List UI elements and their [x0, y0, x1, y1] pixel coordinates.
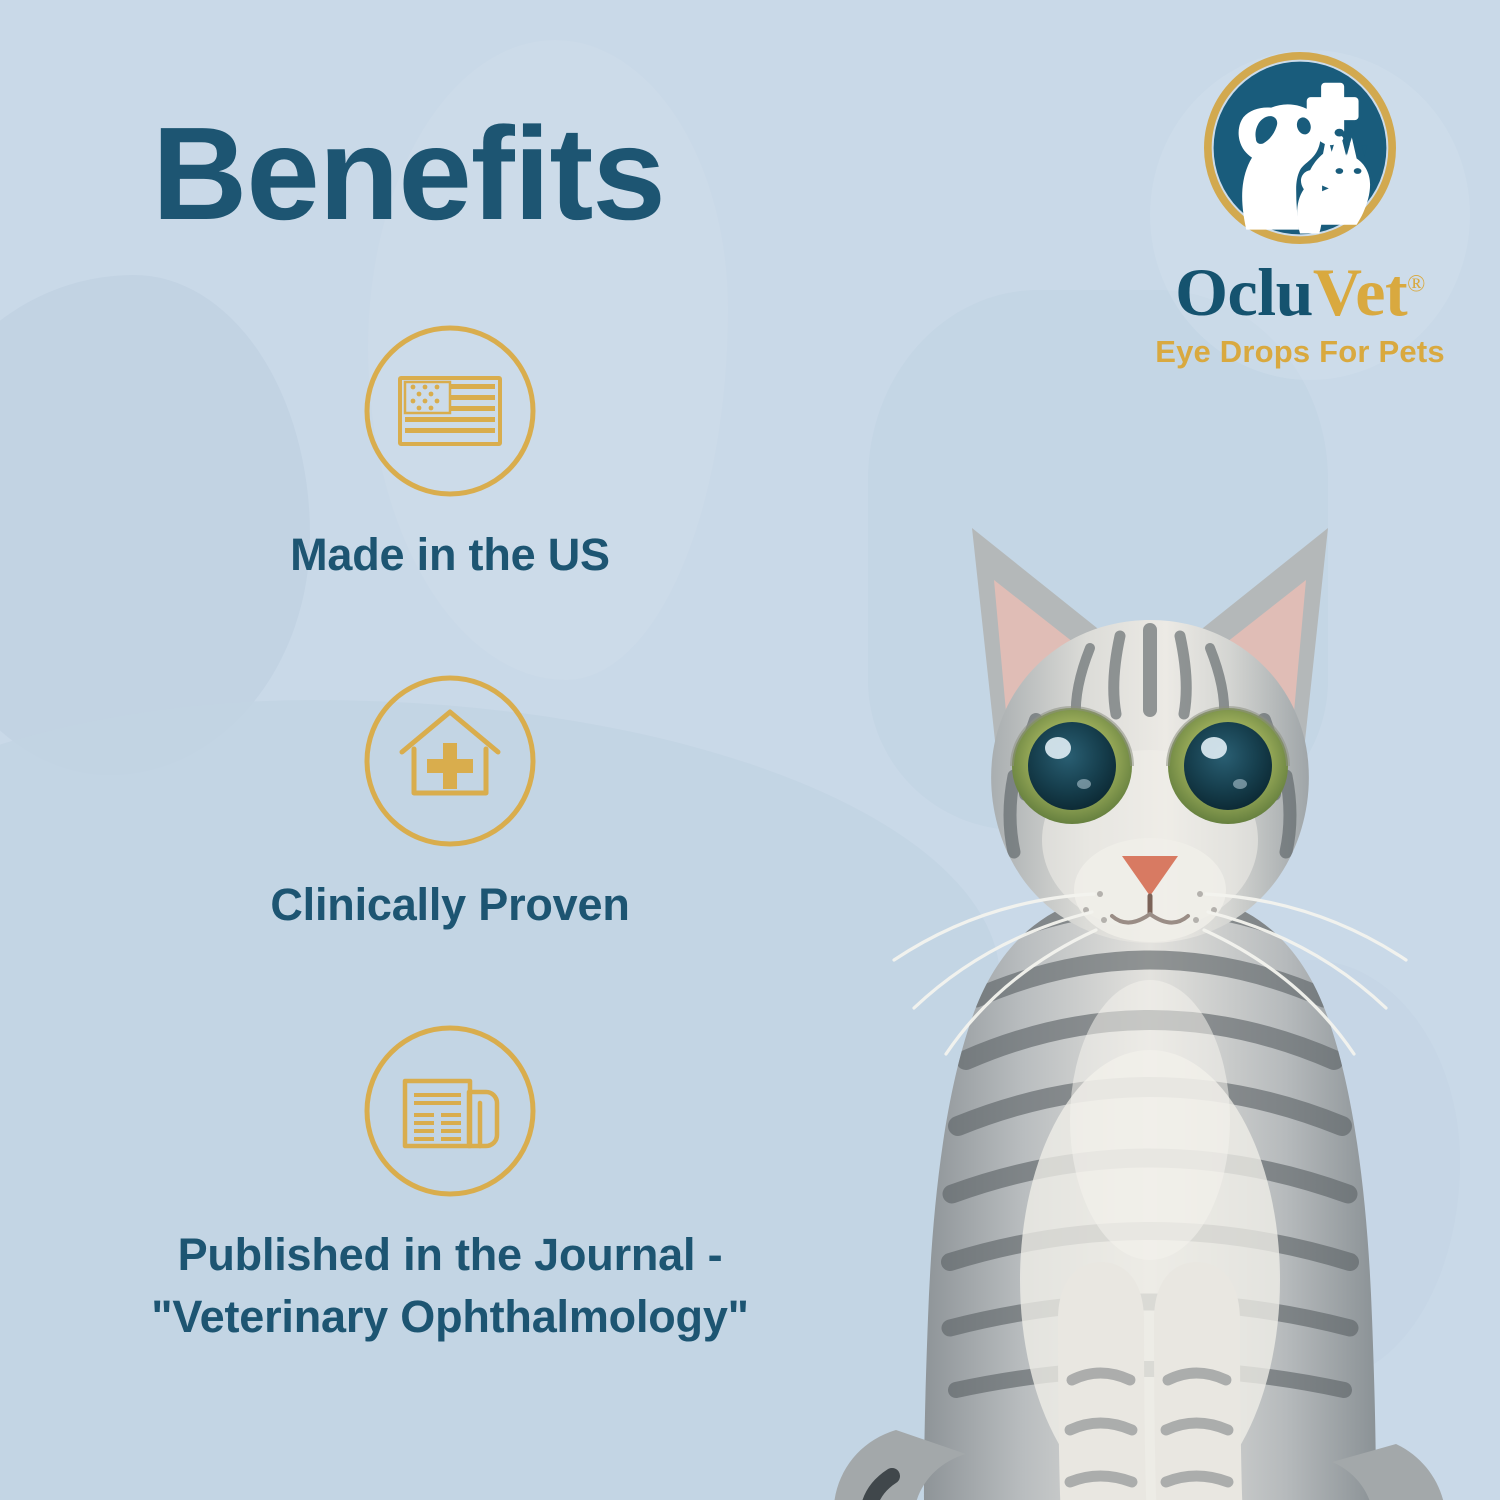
pet-badge-icon [1204, 52, 1396, 244]
benefit-label-line1: Published in the Journal - [178, 1229, 723, 1280]
brand-wordmark-secondary: Vet [1313, 254, 1407, 330]
benefit-label-line1: Clinically Proven [270, 879, 629, 930]
benefit-icon-container [359, 1020, 541, 1202]
benefit-item: Made in the US [40, 320, 860, 586]
benefit-label-line2: "Veterinary Ophthalmology" [151, 1286, 749, 1348]
us-flag-icon [359, 320, 541, 502]
page-title: Benefits [152, 108, 665, 240]
brand-wordmark: OcluVet® [1100, 258, 1500, 326]
newspaper-journal-icon [359, 1020, 541, 1202]
brand-wordmark-primary: Oclu [1175, 254, 1313, 330]
cat-eye-left [1012, 708, 1132, 824]
brand-tagline: Eye Drops For Pets [1100, 334, 1500, 370]
cat-muzzle [1074, 838, 1226, 942]
registered-trademark-mark: ® [1407, 271, 1425, 297]
silver-tabby-cat-illustration [800, 420, 1500, 1500]
benefit-label: Clinically Proven [270, 874, 629, 936]
benefit-label: Made in the US [290, 524, 610, 586]
benefits-list: Made in the US Clinically Proven [40, 320, 860, 1348]
benefit-label-line1: Made in the US [290, 529, 610, 580]
marketing-banner: Benefits [0, 0, 1500, 1500]
clinic-house-plus-icon [359, 670, 541, 852]
benefit-item: Published in the Journal - "Veterinary O… [40, 1020, 860, 1348]
benefit-item: Clinically Proven [40, 670, 860, 936]
benefit-icon-container [359, 320, 541, 502]
brand-logo: OcluVet® Eye Drops For Pets [1100, 52, 1500, 370]
cat-eye-right [1168, 708, 1288, 824]
cat-photo [800, 420, 1500, 1500]
benefit-label: Published in the Journal - "Veterinary O… [151, 1224, 749, 1348]
benefit-icon-container [359, 670, 541, 852]
